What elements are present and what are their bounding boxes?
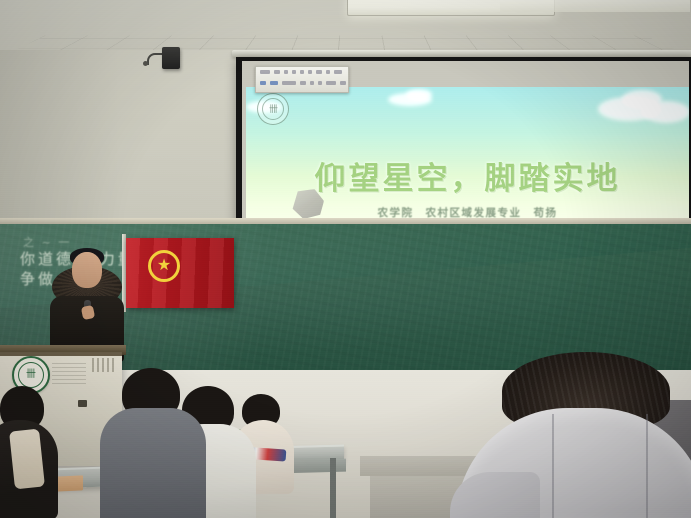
audience-member xyxy=(0,386,76,518)
star-icon: ★ xyxy=(157,258,171,274)
toolbar-icon[interactable] xyxy=(326,81,336,85)
speaker-face xyxy=(72,252,102,288)
toolbar-icon[interactable] xyxy=(274,70,280,74)
undo-icon[interactable] xyxy=(270,81,278,85)
powerpoint-floating-toolbar[interactable] xyxy=(255,66,349,93)
person-jacket xyxy=(100,408,206,518)
wall-mount-anchor xyxy=(143,61,148,66)
font-name-dropdown[interactable] xyxy=(282,81,296,85)
toolbar-icon[interactable] xyxy=(292,70,296,74)
toolbar-icon[interactable] xyxy=(334,70,342,74)
font-size-dropdown[interactable] xyxy=(300,81,306,85)
wall-shadow xyxy=(0,50,120,225)
toolbar-icon[interactable] xyxy=(300,70,304,74)
jacket-seam xyxy=(646,414,648,518)
toolbar-icon[interactable] xyxy=(284,70,288,74)
speaker-person xyxy=(44,248,130,360)
toolbar-row-top xyxy=(260,70,342,74)
communist-youth-league-flag: ★ xyxy=(126,238,234,308)
university-seal-icon: 卌 xyxy=(257,93,289,125)
toolbar-icon[interactable] xyxy=(316,70,322,74)
wall-mounted-projector-icon xyxy=(162,47,180,69)
ceiling-light-panel-secondary xyxy=(500,0,690,12)
university-seal-inner-ring: 卌 xyxy=(18,362,44,388)
university-seal-inner-ring: 卌 xyxy=(262,98,284,120)
audience-member xyxy=(100,368,206,518)
toolbar-icon[interactable] xyxy=(308,70,312,74)
cloud-icon xyxy=(406,89,432,100)
university-seal-glyph: 卌 xyxy=(269,105,277,114)
toolbar-menu-icon[interactable] xyxy=(260,70,270,74)
jacket-seam xyxy=(552,414,554,518)
foreground-person xyxy=(468,352,691,518)
desk-leg xyxy=(330,458,336,518)
save-icon[interactable] xyxy=(260,81,266,85)
flag-emblem-circle: ★ xyxy=(148,250,180,282)
flag-folds xyxy=(126,238,234,308)
toolbar-icon[interactable] xyxy=(340,81,346,85)
slide-title: 仰望星空，脚踏实地 xyxy=(246,153,689,198)
university-seal-glyph: 卌 xyxy=(26,370,36,380)
cloud-icon xyxy=(642,101,689,123)
person-scarf xyxy=(9,429,45,490)
classroom-photo: 卌 仰望星空，脚踏实地 农学院 农村区域发展专业 苟扬 xyxy=(0,0,691,518)
podium-knob[interactable] xyxy=(78,400,87,407)
podium-control-labels xyxy=(52,362,86,384)
toolbar-icon[interactable] xyxy=(326,70,330,74)
projection-screen-roller xyxy=(232,50,691,57)
bold-icon[interactable] xyxy=(310,81,314,85)
toolbar-row-bottom xyxy=(260,81,346,85)
italic-icon[interactable] xyxy=(318,81,322,85)
